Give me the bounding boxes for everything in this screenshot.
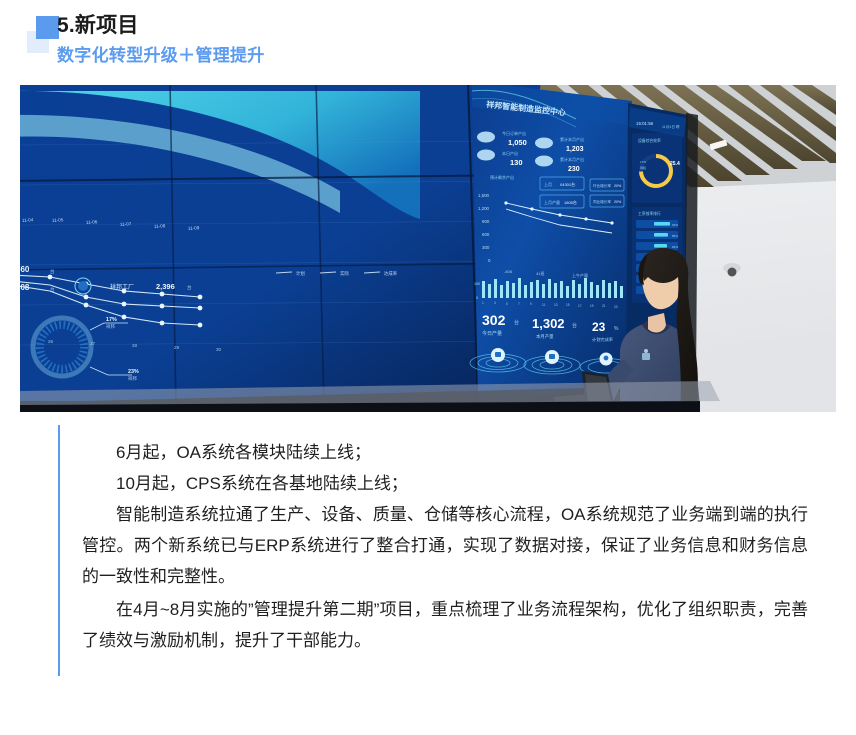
svg-text:26: 26 bbox=[48, 339, 54, 344]
svg-text:28: 28 bbox=[132, 343, 138, 348]
video-wall-right: 祥邦智能制造监控中心 今日订单产出 1,050 本日产出 130 累计本月产出 … bbox=[470, 85, 632, 403]
svg-text:300: 300 bbox=[482, 245, 490, 250]
svg-text:台: 台 bbox=[50, 268, 55, 275]
svg-text:15: 15 bbox=[566, 303, 570, 307]
svg-text:环比增长率: 环比增长率 bbox=[593, 183, 611, 188]
paragraph-1: 6月起，OA系统各模块陆续上线； bbox=[82, 437, 808, 468]
svg-text:2,396: 2,396 bbox=[156, 282, 175, 291]
svg-text:待机: 待机 bbox=[640, 165, 646, 170]
svg-text:23%: 23% bbox=[128, 369, 139, 375]
svg-text:祥邦工厂: 祥邦工厂 bbox=[110, 283, 134, 291]
svg-text:21: 21 bbox=[602, 304, 606, 308]
svg-text:今日订单产出: 今日订单产出 bbox=[502, 130, 526, 136]
paragraph-4: 在4月~8月实施的”管理提升第二期”项目，重点梳理了业务流程架构，优化了组织职责… bbox=[82, 594, 808, 656]
svg-text:17: 17 bbox=[578, 304, 582, 308]
svg-text:台: 台 bbox=[572, 322, 577, 329]
svg-text:上午产量: 上午产量 bbox=[572, 272, 588, 278]
svg-text:20%: 20% bbox=[614, 184, 622, 188]
svg-text:1,500: 1,500 bbox=[478, 193, 490, 198]
svg-text:台: 台 bbox=[187, 284, 192, 291]
svg-text:100: 100 bbox=[474, 282, 480, 286]
svg-text:600: 600 bbox=[482, 232, 490, 237]
svg-text:0: 0 bbox=[476, 296, 478, 300]
svg-text:19: 19 bbox=[590, 304, 594, 308]
svg-text:祥邦: 祥邦 bbox=[106, 323, 115, 330]
svg-text:祥邦: 祥邦 bbox=[128, 375, 137, 382]
svg-text:1,200: 1,200 bbox=[478, 206, 490, 211]
svg-text:11: 11 bbox=[542, 303, 546, 307]
svg-text:上月: 上月 bbox=[544, 181, 552, 187]
svg-text:15:01:56: 15:01:56 bbox=[636, 121, 654, 126]
svg-text:计划完成率: 计划完成率 bbox=[592, 336, 613, 343]
svg-text:台: 台 bbox=[514, 319, 519, 326]
svg-text:本日产出: 本日产出 bbox=[502, 150, 518, 156]
svg-text:30: 30 bbox=[216, 347, 222, 352]
svg-text:3: 3 bbox=[494, 301, 496, 305]
svg-text:25.4: 25.4 bbox=[670, 161, 680, 167]
page-subtitle: 数字化转型升级＋管理提升 bbox=[57, 41, 265, 66]
marker-square-blue bbox=[36, 16, 59, 39]
svg-text:9: 9 bbox=[530, 302, 532, 306]
svg-text:11月4日 晴: 11月4日 晴 bbox=[662, 124, 680, 129]
paragraph-3: 智能制造系统拉通了生产、设备、质量、仓储等核心流程，OA系统规范了业务端到端的执… bbox=[82, 499, 808, 592]
svg-text:今日产量: 今日产量 bbox=[482, 330, 502, 337]
control-room-photo: 11-04 11-05 11-06 11-07 11-08 11-09 计划 实… bbox=[20, 85, 836, 412]
svg-text:23: 23 bbox=[592, 320, 606, 334]
left-accent-rule bbox=[58, 425, 60, 676]
svg-text:累计本月产出: 累计本月产出 bbox=[560, 136, 584, 142]
svg-text:设备综合效率: 设备综合效率 bbox=[638, 138, 661, 143]
svg-text:台: 台 bbox=[50, 286, 55, 293]
svg-text:达成率: 达成率 bbox=[384, 270, 398, 277]
svg-text:预计剩余产出: 预计剩余产出 bbox=[490, 174, 514, 180]
svg-text:同比增长率: 同比增长率 bbox=[593, 199, 611, 204]
svg-text:17%: 17% bbox=[106, 317, 117, 323]
paragraph-2: 10月起，CPS系统在各基地陆续上线； bbox=[82, 468, 808, 499]
svg-text:7: 7 bbox=[518, 302, 520, 306]
svg-text:1,203: 1,203 bbox=[566, 146, 584, 153]
svg-text:1: 1 bbox=[482, 301, 484, 305]
svg-text:本月产量: 本月产量 bbox=[536, 333, 554, 340]
svg-text:计划: 计划 bbox=[296, 270, 305, 277]
svg-text:17%: 17% bbox=[640, 160, 646, 164]
svg-text:130: 130 bbox=[510, 158, 523, 167]
svg-text:230: 230 bbox=[568, 166, 580, 173]
svg-text:20%: 20% bbox=[614, 200, 622, 204]
svg-text:11-04: 11-04 bbox=[22, 217, 34, 223]
svg-text:11-06: 11-06 bbox=[86, 219, 98, 225]
svg-text:04301台: 04301台 bbox=[560, 181, 575, 187]
svg-text:41班: 41班 bbox=[536, 270, 544, 276]
svg-text:13: 13 bbox=[554, 303, 558, 307]
svg-text:1,050: 1,050 bbox=[508, 138, 527, 147]
svg-text:1,302: 1,302 bbox=[532, 316, 565, 331]
svg-text:11-09: 11-09 bbox=[188, 225, 200, 231]
page-title: 5.新项目 bbox=[57, 9, 139, 39]
svg-text:1805台: 1805台 bbox=[564, 199, 577, 205]
svg-text:11-05: 11-05 bbox=[52, 217, 64, 223]
svg-text:308: 308 bbox=[20, 283, 30, 292]
svg-text:560: 560 bbox=[20, 265, 30, 274]
svg-text:%: % bbox=[614, 326, 619, 332]
svg-text:5: 5 bbox=[506, 302, 508, 306]
svg-text:实际: 实际 bbox=[340, 270, 349, 277]
svg-text:工序效率排行: 工序效率排行 bbox=[638, 211, 661, 216]
svg-text:81%: 81% bbox=[672, 245, 678, 249]
svg-text:85%: 85% bbox=[672, 234, 678, 238]
page-header: 5.新项目 数字化转型升级＋管理提升 bbox=[0, 0, 856, 82]
svg-text:29: 29 bbox=[174, 345, 180, 350]
svg-text:93%: 93% bbox=[672, 223, 678, 227]
svg-text:900: 900 bbox=[482, 219, 490, 224]
svg-text:上月产量: 上月产量 bbox=[544, 199, 560, 205]
svg-text:23: 23 bbox=[614, 305, 618, 309]
svg-text:11-08: 11-08 bbox=[154, 223, 166, 229]
body-text-block: 6月起，OA系统各模块陆续上线； 10月起，CPS系统在各基地陆续上线； 智能制… bbox=[82, 437, 808, 656]
svg-text:302: 302 bbox=[482, 312, 506, 328]
svg-text:累计本月产出: 累计本月产出 bbox=[560, 156, 584, 162]
svg-text:11-07: 11-07 bbox=[120, 221, 132, 227]
svg-text:-408: -408 bbox=[504, 269, 513, 274]
